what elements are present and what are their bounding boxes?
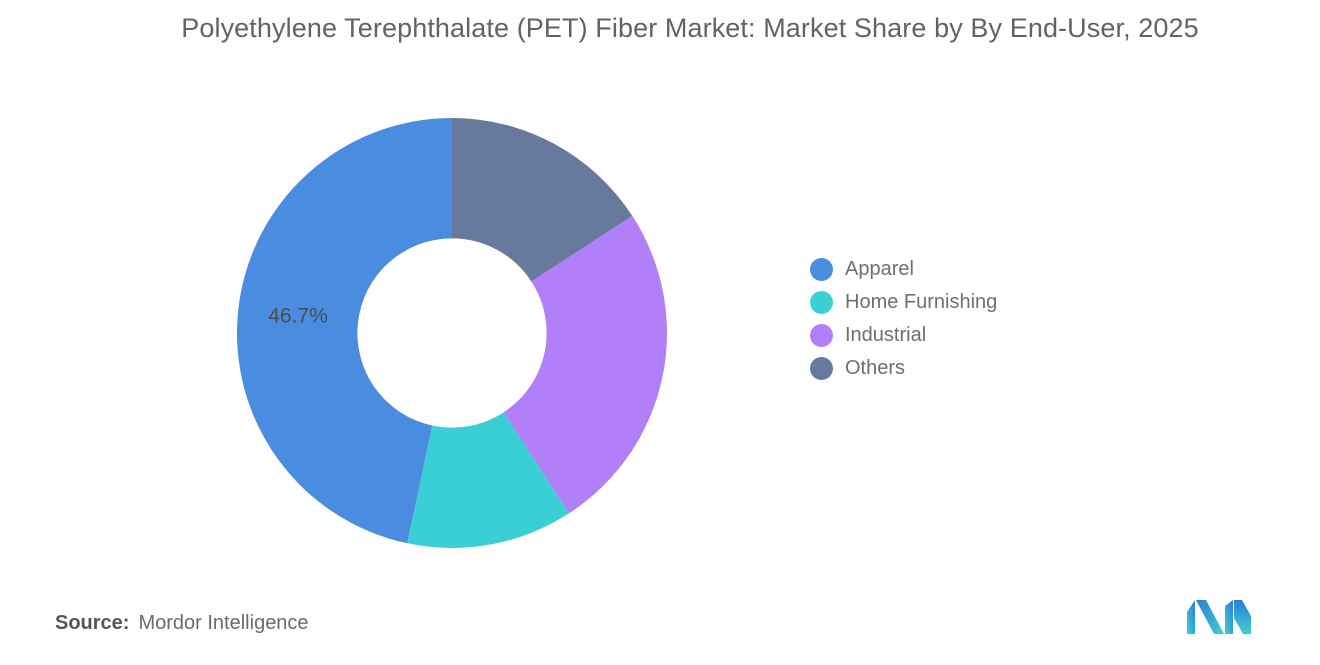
legend-item-home-furnishing[interactable]: Home Furnishing: [810, 291, 997, 314]
page-title: Polyethylene Terephthalate (PET) Fiber M…: [130, 8, 1250, 49]
legend-swatch-icon-apparel: [810, 258, 833, 281]
legend-item-others[interactable]: Others: [810, 357, 997, 380]
slice-data-label-apparel: 46.7%: [268, 304, 328, 327]
legend-label-industrial: Industrial: [845, 324, 926, 347]
legend-label-others: Others: [845, 357, 905, 380]
legend-item-industrial[interactable]: Industrial: [810, 324, 997, 347]
source-attribution: Source: Mordor Intelligence: [55, 612, 309, 635]
donut-chart-svg: 46.7%: [237, 118, 667, 548]
logo-mark-icon: [1186, 598, 1252, 636]
mordor-intelligence-logo: [1186, 598, 1252, 636]
source-label: Source:: [55, 612, 129, 635]
legend-item-apparel[interactable]: Apparel: [810, 258, 997, 281]
donut-chart: 46.7%: [237, 118, 667, 548]
source-value: Mordor Intelligence: [138, 612, 308, 635]
chart-legend: Apparel Home Furnishing Industrial Other…: [810, 258, 997, 380]
legend-swatch-icon-industrial: [810, 324, 833, 347]
legend-label-home-furnishing: Home Furnishing: [845, 291, 997, 314]
donut-slice-apparel[interactable]: [237, 118, 452, 543]
legend-label-apparel: Apparel: [845, 258, 914, 281]
legend-swatch-icon-home-furnishing: [810, 291, 833, 314]
legend-swatch-icon-others: [810, 357, 833, 380]
donut-slice-layer: [237, 118, 667, 548]
